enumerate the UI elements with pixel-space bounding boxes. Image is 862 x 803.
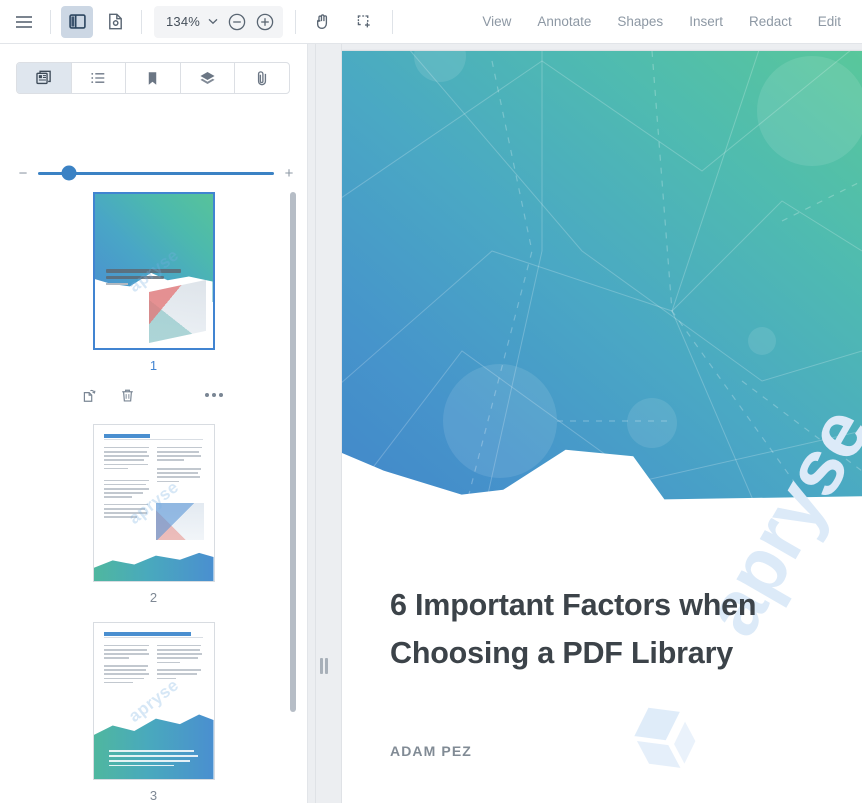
thumbnail-list: apryse 1 bbox=[0, 192, 307, 803]
sidebar-tab-layers[interactable] bbox=[181, 63, 236, 93]
thumb-heading-rule bbox=[104, 637, 202, 638]
thumb-heading-bar bbox=[104, 632, 190, 636]
cover-network-decoration bbox=[342, 51, 862, 521]
left-sidebar: − + bbox=[0, 44, 308, 803]
slider-thumb[interactable] bbox=[61, 166, 76, 181]
thumb-quote-lines bbox=[109, 750, 201, 769]
pdf-viewer-app: 134% bbox=[0, 0, 862, 803]
page-author: ADAM PEZ bbox=[390, 743, 472, 759]
list-item: apryse 3 bbox=[0, 622, 307, 802]
sidebar-tab-bookmarks[interactable] bbox=[126, 63, 181, 93]
thumb-text-col-left bbox=[104, 645, 150, 686]
apryse-watermark-logo bbox=[618, 691, 710, 783]
menu-redact[interactable]: Redact bbox=[736, 7, 805, 36]
menu-view[interactable]: View bbox=[469, 7, 524, 36]
thumb-heading-bar bbox=[104, 434, 150, 438]
thumbnail-page-2[interactable]: apryse bbox=[93, 424, 215, 582]
list-item: apryse 2 bbox=[0, 424, 307, 604]
thumb-text-col-right bbox=[157, 447, 203, 485]
thumb-bottom-wave bbox=[94, 710, 214, 779]
zoom-in-button[interactable] bbox=[251, 8, 279, 36]
menu-edit[interactable]: Edit bbox=[805, 7, 854, 36]
marquee-select-icon[interactable] bbox=[348, 6, 380, 38]
toolbar-divider-3 bbox=[295, 10, 296, 34]
thumbnail-page-number: 1 bbox=[150, 359, 157, 372]
zoom-level-value[interactable]: 134% bbox=[158, 14, 203, 29]
document-properties-icon[interactable] bbox=[99, 6, 131, 38]
sidebar-scrollbar[interactable] bbox=[290, 192, 296, 712]
toolbar-menus: View Annotate Shapes Insert Redact Edit bbox=[469, 7, 862, 36]
thumb-heading-rule bbox=[104, 439, 202, 440]
page-title: 6 Important Factors when Choosing a PDF … bbox=[390, 581, 850, 677]
thumb-illustration bbox=[156, 503, 204, 540]
thumbnail-page-number: 2 bbox=[150, 591, 157, 604]
left-panel-toggle-icon[interactable] bbox=[61, 6, 93, 38]
rotate-page-icon[interactable] bbox=[79, 384, 101, 406]
page-action-bar bbox=[79, 384, 229, 406]
sidebar-tab-attachments[interactable] bbox=[235, 63, 289, 93]
menu-annotate[interactable]: Annotate bbox=[524, 7, 604, 36]
sidebar-tab-thumbnails[interactable] bbox=[17, 63, 72, 93]
toolbar-divider-1 bbox=[50, 10, 51, 34]
pan-hand-icon[interactable] bbox=[306, 6, 338, 38]
toolbar-divider-2 bbox=[141, 10, 142, 34]
splitter-handle[interactable] bbox=[320, 658, 330, 674]
menu-insert[interactable]: Insert bbox=[676, 7, 736, 36]
delete-page-icon[interactable] bbox=[117, 384, 139, 406]
zoom-out-button[interactable] bbox=[223, 8, 251, 36]
hamburger-menu-icon[interactable] bbox=[8, 6, 40, 38]
top-toolbar: 134% bbox=[0, 0, 862, 44]
more-options-icon[interactable] bbox=[199, 387, 229, 403]
thumb-text-col-right bbox=[157, 645, 203, 682]
zoom-controls: 134% bbox=[154, 6, 283, 38]
thumbnail-page-number: 3 bbox=[150, 789, 157, 802]
list-item: apryse 1 bbox=[0, 192, 307, 406]
chevron-down-icon[interactable] bbox=[203, 7, 223, 37]
thumbnail-page-1[interactable]: apryse bbox=[93, 192, 215, 350]
thumbnail-page-3[interactable]: apryse bbox=[93, 622, 215, 780]
sidebar-tab-outline[interactable] bbox=[72, 63, 127, 93]
thumb-bottom-wave bbox=[94, 547, 214, 581]
thumbnail-zoom-out[interactable]: − bbox=[16, 166, 30, 181]
menu-shapes[interactable]: Shapes bbox=[604, 7, 676, 36]
cover-gradient bbox=[342, 51, 862, 521]
slider-track[interactable] bbox=[38, 172, 274, 175]
document-page-1: apryse 6 Important Factors when Choosing… bbox=[342, 51, 862, 803]
toolbar-divider-4 bbox=[392, 10, 393, 34]
thumbnail-size-slider[interactable]: − + bbox=[16, 164, 296, 182]
sidebar-tab-bar bbox=[16, 62, 290, 94]
panel-splitter[interactable] bbox=[308, 44, 342, 803]
thumb-illustration bbox=[149, 280, 206, 343]
document-viewport[interactable]: apryse 6 Important Factors when Choosing… bbox=[342, 44, 862, 803]
thumbnail-zoom-in[interactable]: + bbox=[282, 166, 296, 181]
